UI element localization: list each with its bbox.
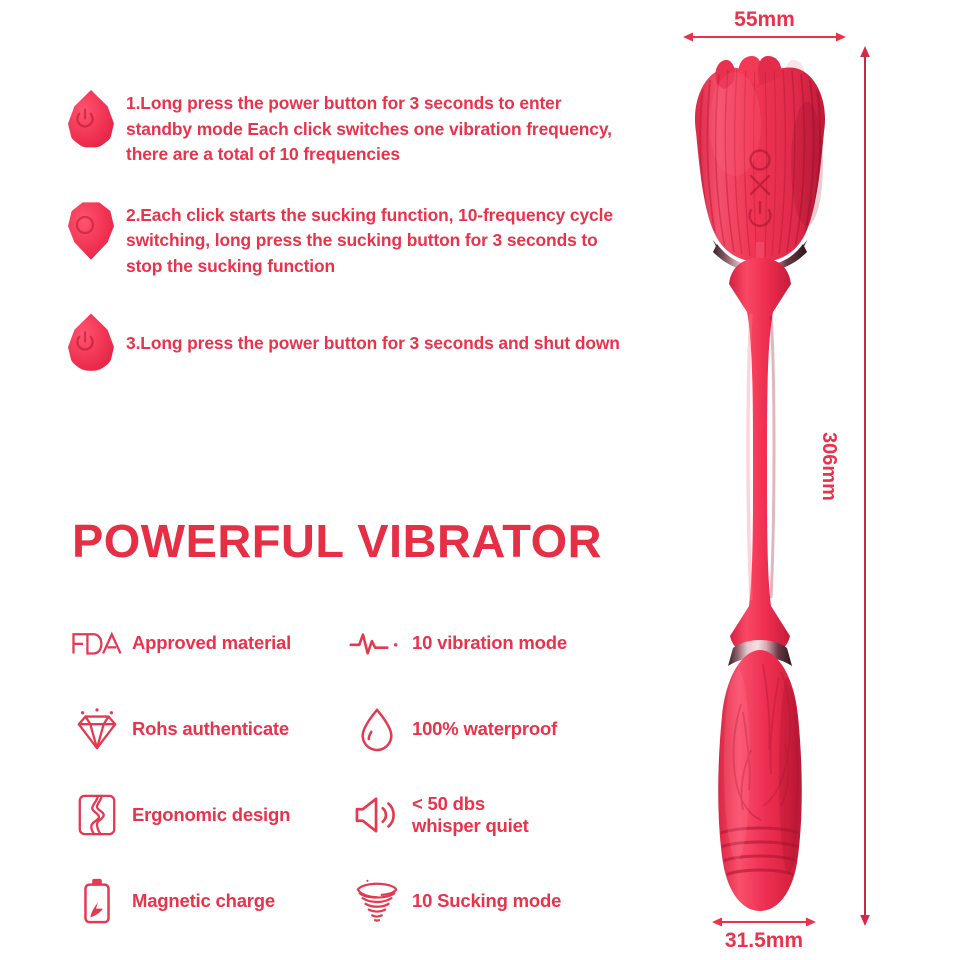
feature-sucking-mode: 10 Sucking mode [346, 858, 636, 944]
infographic-page: 1.Long press the power button for 3 seco… [0, 0, 960, 960]
bullet-body [718, 650, 802, 911]
battery-icon [66, 873, 128, 929]
rose-head [695, 56, 825, 272]
instruction-item-2: 2.Each click starts the sucking function… [62, 196, 622, 280]
connector-rod [729, 258, 791, 656]
instruction-item-3: 3.Long press the power button for 3 seco… [62, 307, 622, 379]
instruction-text-2: 2.Each click starts the sucking function… [120, 196, 622, 280]
instruction-icon-1 [62, 84, 120, 156]
feature-whisper-quiet: < 50 dbs whisper quiet [346, 772, 636, 858]
fda-icon [66, 615, 128, 671]
dimension-width-top-arrow [683, 31, 846, 43]
instruction-text-1: 1.Long press the power button for 3 seco… [120, 84, 622, 168]
dimension-width-bottom-arrow [712, 916, 816, 928]
page-title: POWERFUL VIBRATOR [72, 518, 602, 564]
feature-label: 100% waterproof [408, 718, 557, 740]
dimension-height-label: 306mm [817, 432, 840, 501]
features-grid: Approved material 10 vibration mode [66, 600, 636, 944]
feature-waterproof: 100% waterproof [346, 686, 636, 772]
feature-label: Approved material [128, 632, 291, 654]
speaker-icon [346, 787, 408, 843]
diamond-icon [66, 701, 128, 757]
feature-label: 10 vibration mode [408, 632, 567, 654]
vortex-icon [346, 873, 408, 929]
feature-vibration-mode: 10 vibration mode [346, 600, 636, 686]
dimension-height-arrow [858, 46, 872, 926]
feature-label: Rohs authenticate [128, 718, 289, 740]
feature-label: 10 Sucking mode [408, 890, 561, 912]
instruction-icon-3 [62, 307, 120, 379]
heartbeat-icon [346, 615, 408, 671]
feature-label: < 50 dbs whisper quiet [408, 793, 529, 837]
power-drop-icon [68, 90, 114, 148]
feature-label: Magnetic charge [128, 890, 275, 912]
instruction-item-1: 1.Long press the power button for 3 seco… [62, 84, 622, 168]
instruction-icon-2 [62, 196, 120, 268]
instruction-text-3: 3.Long press the power button for 3 seco… [120, 307, 622, 357]
instructions-list: 1.Long press the power button for 3 seco… [62, 84, 622, 407]
ergonomic-icon [66, 787, 128, 843]
feature-rohs-authenticate: Rohs authenticate [66, 686, 346, 772]
power-drop-icon [68, 313, 114, 371]
feature-approved-material: Approved material [66, 600, 346, 686]
dimension-width-top-label: 55mm [683, 8, 846, 32]
dimension-width-bottom-label: 31.5mm [692, 929, 836, 953]
feature-label: Ergonomic design [128, 804, 290, 826]
feature-magnetic-charge: Magnetic charge [66, 858, 346, 944]
suction-pin-icon [68, 202, 114, 260]
feature-ergonomic-design: Ergonomic design [66, 772, 346, 858]
water-drop-icon [346, 701, 408, 757]
